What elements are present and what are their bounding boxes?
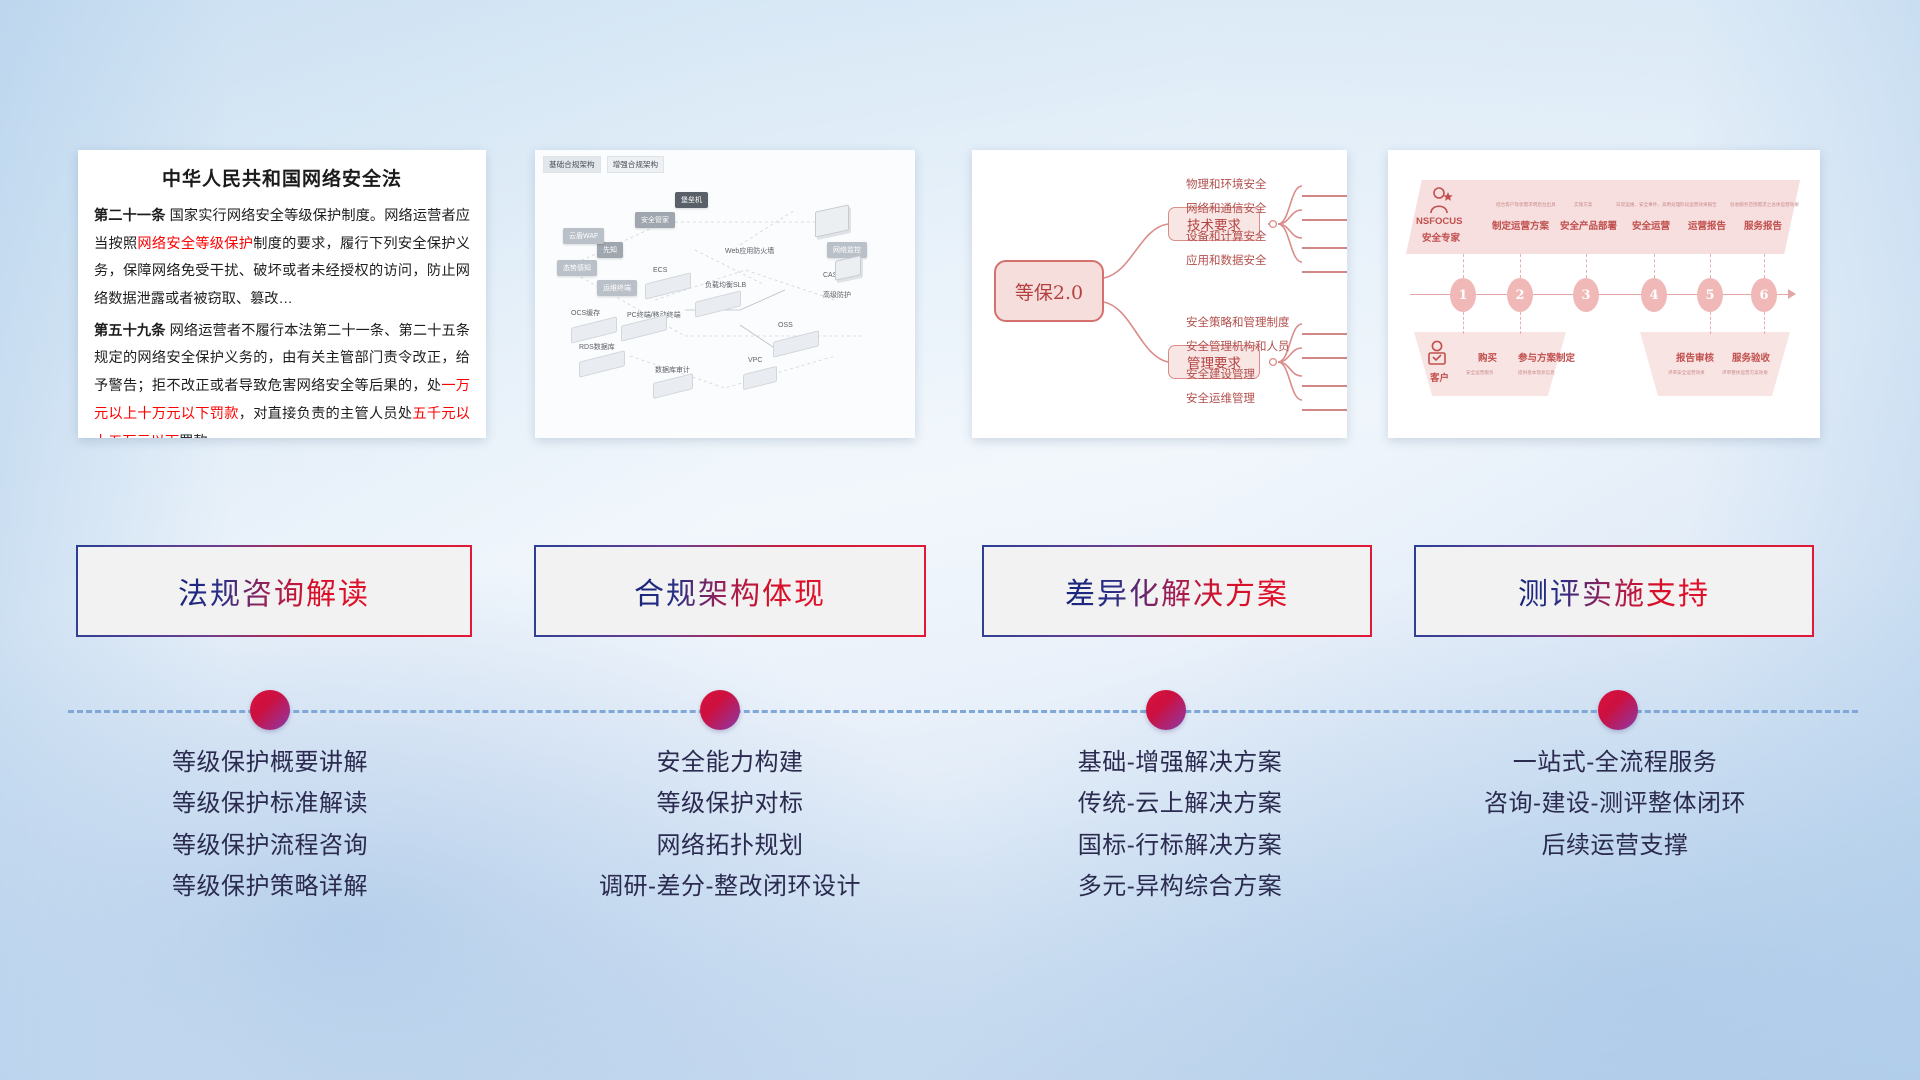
timeline-bottom-ribbon-right [1640,332,1790,396]
list-item: 等级保护策略详解 [70,866,470,907]
header-label-4: 测评实施支持 [1518,569,1710,613]
arch-cap-vpc: VPC [748,357,762,364]
timeline-bottom-sub-1: 安全运营服务 [1466,370,1494,376]
mindmap-leaf-ops-mgmt: 安全运维管理 [1186,390,1255,406]
mindmap-leaf-org-personnel: 安全管理机构和人员 [1186,338,1290,354]
header-box-regulation-consulting[interactable]: 法规咨询解读 [76,545,472,637]
law-article-21-label: 第二十一条 [94,208,166,224]
customer-person-icon [1426,340,1450,370]
timeline-dash-b4 [1764,312,1765,334]
arch-node-ops-terminal: 运维终端 [597,280,637,296]
timeline-dash-b2 [1520,312,1521,334]
list-item: 安全能力构建 [530,742,930,783]
timeline-bottom-sub-3: 评审安全运营效果 [1668,370,1705,376]
detail-column-1: 等级保护概要讲解 等级保护标准解读 等级保护流程咨询 等级保护策略详解 [70,742,470,907]
top-cards-row: 中华人民共和国网络安全法 第二十一条 国家实行网络安全等级保护制度。网络运营者应… [0,150,1920,440]
arch-cap-rds: RDS数据库 [579,342,615,352]
arch-cap-slb: 负载均衡SLB [705,280,746,290]
header-box-assessment-support[interactable]: 测评实施支持 [1414,545,1814,637]
timeline-dash-b1 [1463,312,1464,334]
law-article-21-highlight: 网络安全等级保护 [137,236,253,252]
timeline-top-title-1: 制定运营方案 [1492,218,1549,232]
timeline-top-sub-1: 结合客户现状需求明后台出具 [1496,202,1556,208]
detail-column-4: 一站式-全流程服务 咨询-建设-测评整体闭环 后续运营支撑 [1400,742,1830,866]
arch-node-network-monitor: 网络监控 [827,242,867,258]
axis-dot-4 [1598,690,1638,730]
timeline-step-1: 1 [1450,278,1476,312]
axis-dot-3 [1146,690,1186,730]
detail-columns-row: 等级保护概要讲解 等级保护标准解读 等级保护流程咨询 等级保护策略详解 安全能力… [0,742,1920,972]
list-item: 等级保护概要讲解 [70,742,470,783]
list-item: 后续运营支撑 [1400,825,1830,866]
mindmap-leaf-construction-mgmt: 安全建设管理 [1186,366,1255,382]
timeline-top-title-2: 安全产品部署 [1560,218,1617,232]
mindmap-leaf-physical-env: 物理和环境安全 [1186,176,1267,192]
timeline-axis-arrow [1788,289,1796,299]
timeline-role-expert-line2: 安全专家 [1422,230,1460,244]
card-nsfocus-timeline: NSFOCUS 安全专家 结合客户现状需求明后台出具 制定运营方案 实施方案 安… [1388,150,1820,438]
law-title: 中华人民共和国网络安全法 [94,164,470,191]
timeline-dash-6 [1764,254,1765,278]
list-item: 网络拓扑规划 [530,825,930,866]
timeline-step-2: 2 [1507,278,1533,312]
list-item: 调研-差分-整改闭环设计 [530,866,930,907]
arch-cap-advanced-protection: 高级防护 [823,290,851,300]
timeline-dash-b3 [1710,312,1711,334]
header-box-compliance-architecture[interactable]: 合规架构体现 [534,545,926,637]
list-item: 传统-云上解决方案 [980,783,1380,824]
law-article-59-text-b: ，对直接负责的主管人员处 [239,406,413,422]
header-label-3: 差异化解决方案 [1065,569,1289,613]
timeline-top-title-5: 服务报告 [1744,218,1782,232]
arch-node-security-butler: 安全管家 [635,212,675,228]
mindmap-leaf-device-compute: 设备和计算安全 [1186,228,1267,244]
timeline-bottom-title-1: 购买 [1478,350,1497,364]
list-item: 基础-增强解决方案 [980,742,1380,783]
timeline-connector-row [0,690,1920,734]
axis-dot-1 [250,690,290,730]
card-mindmap-dengbao: 等保2.0 技术要求 管理要求 物理和环境安全 网络和通信安全 设备和计算安全 … [972,150,1347,438]
law-article-21: 第二十一条 国家实行网络安全等级保护制度。网络运营者应当按照网络安全等级保护制度… [94,203,470,314]
detail-column-3: 基础-增强解决方案 传统-云上解决方案 国标-行标解决方案 多元-异构综合方案 [980,742,1380,907]
timeline-top-title-3: 安全运营 [1632,218,1670,232]
timeline-bottom-title-4: 服务验收 [1732,350,1770,364]
law-article-59-label: 第五十九条 [94,323,166,339]
header-label-2: 合规架构体现 [634,569,826,613]
timeline-role-expert-line1: NSFOCUS [1416,216,1462,227]
header-label-1: 法规咨询解读 [178,569,370,613]
nsfocus-timeline: NSFOCUS 安全专家 结合客户现状需求明后台出具 制定运营方案 实施方案 安… [1388,150,1820,438]
timeline-step-3: 3 [1573,278,1599,312]
mindmap-leaf-policy-system: 安全策略和管理制度 [1186,314,1290,330]
arch-node-xianzhi: 先知 [597,242,623,258]
list-item: 咨询-建设-测评整体闭环 [1400,783,1830,824]
dashed-axis-line [68,710,1858,713]
arch-cap-ecs: ECS [653,267,667,274]
law-article-59: 第五十九条 网络运营者不履行本法第二十一条、第二十五条规定的网络安全保护义务的，… [94,318,470,438]
arch-cap-db-audit: 数据库审计 [655,365,690,375]
header-box-differentiated-solution[interactable]: 差异化解决方案 [982,545,1372,637]
timeline-step-6: 6 [1751,278,1777,312]
list-item: 多元-异构综合方案 [980,866,1380,907]
timeline-top-sub-2: 实施方案 [1574,202,1592,208]
arch-node-waf: 云盾WAF [563,228,604,244]
list-item: 国标-行标解决方案 [980,825,1380,866]
law-text-block: 中华人民共和国网络安全法 第二十一条 国家实行网络安全等级保护制度。网络运营者应… [78,150,486,438]
timeline-bottom-title-3: 报告审核 [1676,350,1714,364]
timeline-dash-5 [1710,254,1711,278]
timeline-step-4: 4 [1641,278,1667,312]
timeline-step-5: 5 [1697,278,1723,312]
list-item: 等级保护标准解读 [70,783,470,824]
detail-column-2: 安全能力构建 等级保护对标 网络拓扑规划 调研-差分-整改闭环设计 [530,742,930,907]
section-headers-row: 法规咨询解读 合规架构体现 差异化解决方案 测评实施支持 [0,545,1920,645]
timeline-top-sub-3: 日常运维、安全事件、高用处理 [1616,202,1680,208]
arch-cap-oss: OSS [778,322,793,329]
timeline-dash-3 [1586,254,1587,278]
arch-cap-ocs: OCS缓存 [571,308,600,318]
axis-dot-2 [700,690,740,730]
timeline-top-ribbon [1406,180,1800,254]
expert-person-icon [1428,186,1454,216]
timeline-bottom-sub-4: 评审整体运营方案效果 [1722,370,1768,376]
card-cybersecurity-law: 中华人民共和国网络安全法 第二十一条 国家实行网络安全等级保护制度。网络运营者应… [78,150,486,438]
mindmap-center-node: 等保2.0 [994,260,1104,322]
list-item: 一站式-全流程服务 [1400,742,1830,783]
arch-node-situation-awareness: 态势感知 [557,260,597,276]
timeline-top-title-4: 运营报告 [1688,218,1726,232]
list-item: 等级保护对标 [530,783,930,824]
list-item: 等级保护流程咨询 [70,825,470,866]
law-article-59-text-c: 罚款。 [179,434,222,439]
timeline-top-sub-4: 阶段运营效果报告 [1680,202,1717,208]
timeline-top-sub-5: 验收服务范围需求之总体运营效果 [1730,202,1799,208]
timeline-bottom-title-2: 参与方案制定 [1518,350,1575,364]
timeline-dash-2 [1520,254,1521,278]
timeline-bottom-sub-2: 提供基本现状信息 [1518,370,1555,376]
card-compliance-architecture: 基础合规架构 增强合规架构 堡垒机 安全管家 [535,150,915,438]
timeline-dash-1 [1463,254,1464,278]
arch-node-bastion: 堡垒机 [675,192,708,208]
mindmap-leaf-app-data: 应用和数据安全 [1186,252,1267,268]
arch-cap-web-firewall: Web应用防火墙 [725,246,774,256]
mindmap-leaf-network-comm: 网络和通信安全 [1186,200,1267,216]
timeline-role-customer: 客户 [1430,370,1449,384]
mindmap: 等保2.0 技术要求 管理要求 物理和环境安全 网络和通信安全 设备和计算安全 … [972,150,1347,438]
timeline-dash-4 [1654,254,1655,278]
architecture-diagram: 基础合规架构 增强合规架构 堡垒机 安全管家 [535,150,915,438]
